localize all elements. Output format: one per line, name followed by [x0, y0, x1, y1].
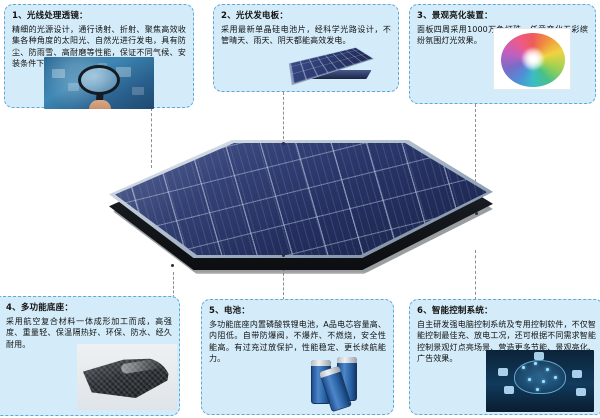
lithium-cells-photo	[301, 352, 391, 412]
smart-control-photo	[486, 350, 594, 412]
panel-anchor-bottom	[282, 254, 285, 257]
color-wheel-photo	[493, 28, 571, 90]
diagram-canvas: 1、光线处理透镜： 精细的光源设计，通行诱射、折射、聚焦高效收集各种角度的太阳光…	[0, 0, 600, 418]
callout-3-title: 3、景观亮化装置：	[417, 11, 588, 22]
panel-anchor-bottomleft	[171, 264, 174, 267]
magnifier-icon	[78, 65, 120, 95]
callout-6-title: 6、智能控制系统：	[417, 306, 596, 317]
magnifier-photo	[44, 57, 154, 109]
panel-anchor-right	[475, 212, 478, 215]
callout-4-title: 4、多功能底座：	[0, 303, 172, 314]
callout-2-title: 2、光伏发电板：	[221, 11, 391, 22]
hexagonal-solar-panel	[105, 112, 501, 292]
carbon-fiber-base-photo	[77, 344, 177, 410]
panel-anchor-top	[282, 142, 285, 145]
callout-5-title: 5、电池：	[209, 306, 386, 317]
color-wheel-icon	[501, 33, 565, 87]
callout-1-title: 1、光线处理透镜：	[12, 11, 186, 22]
solar-module-photo	[283, 44, 383, 88]
